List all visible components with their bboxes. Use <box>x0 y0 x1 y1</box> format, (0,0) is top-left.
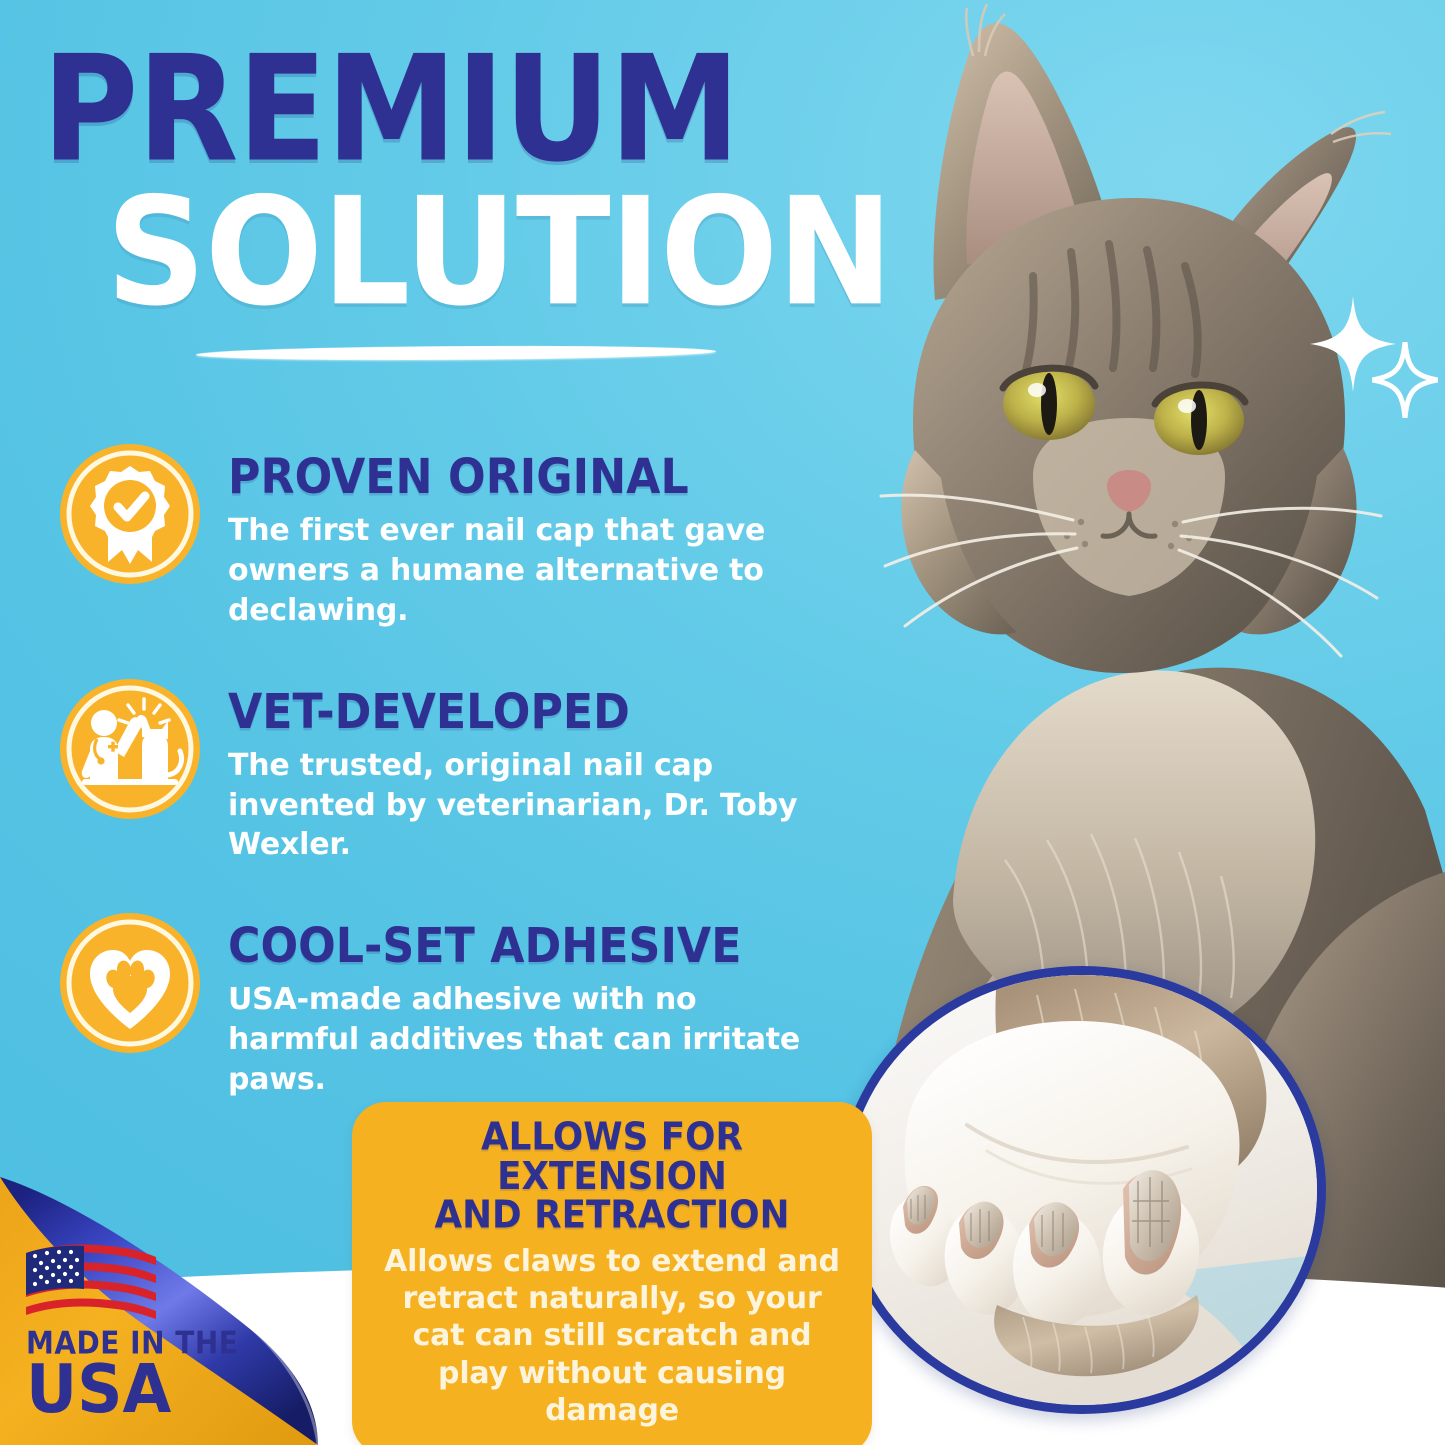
feature-body: The trusted, original nail cap invented … <box>228 746 808 866</box>
headline-block: PREMIUM SOLUTION <box>42 52 802 311</box>
callout-title-line-2: AND RETRACTION <box>435 1194 790 1238</box>
cat-eye-left <box>1003 368 1095 440</box>
feature-text: VET-DEVELOPED The trusted, original nail… <box>228 673 836 866</box>
feature-text: COOL-SET ADHESIVE USA-made adhesive with… <box>228 907 836 1100</box>
feature-body: The first ever nail cap that gave owners… <box>228 511 808 631</box>
headline-line-2: SOLUTION <box>106 183 886 323</box>
callout-title-line-1: ALLOWS FOR EXTENSION <box>481 1115 743 1198</box>
made-in-usa-line-2: USA <box>26 1356 225 1423</box>
callout-title: ALLOWS FOR EXTENSION AND RETRACTION <box>369 1119 855 1237</box>
heart-paw-icon <box>56 909 204 1057</box>
extension-retraction-callout: ALLOWS FOR EXTENSION AND RETRACTION Allo… <box>352 1102 872 1445</box>
sparkle-small-outline <box>1372 342 1438 418</box>
feature-text: PROVEN ORIGINAL The first ever nail cap … <box>228 438 836 631</box>
made-in-usa-badge: MADE IN THE USA <box>26 1243 216 1423</box>
cat-paw-with-nail-caps-photo <box>838 966 1326 1414</box>
feature-title: VET-DEVELOPED <box>228 689 854 737</box>
award-ribbon-check-icon <box>56 440 204 588</box>
product-infographic: PREMIUM SOLUTION PROVEN ORIGINAL The fir… <box>0 0 1445 1445</box>
veterinarian-cat-highfive-icon <box>56 675 204 823</box>
usa-flag-icon <box>26 1243 156 1325</box>
swoosh-divider <box>196 342 716 364</box>
feature-item: PROVEN ORIGINAL The first ever nail cap … <box>56 438 836 631</box>
feature-item: VET-DEVELOPED The trusted, original nail… <box>56 673 836 866</box>
feature-list: PROVEN ORIGINAL The first ever nail cap … <box>56 438 836 1100</box>
headline-line-1: PREMIUM <box>42 42 848 180</box>
feature-title: PROVEN ORIGINAL <box>228 454 854 502</box>
feature-title: COOL-SET ADHESIVE <box>228 923 854 971</box>
feature-item: COOL-SET ADHESIVE USA-made adhesive with… <box>56 907 836 1100</box>
feature-body: USA-made adhesive with no harmful additi… <box>228 980 808 1100</box>
callout-body: Allows claws to extend and retract natur… <box>374 1243 850 1429</box>
